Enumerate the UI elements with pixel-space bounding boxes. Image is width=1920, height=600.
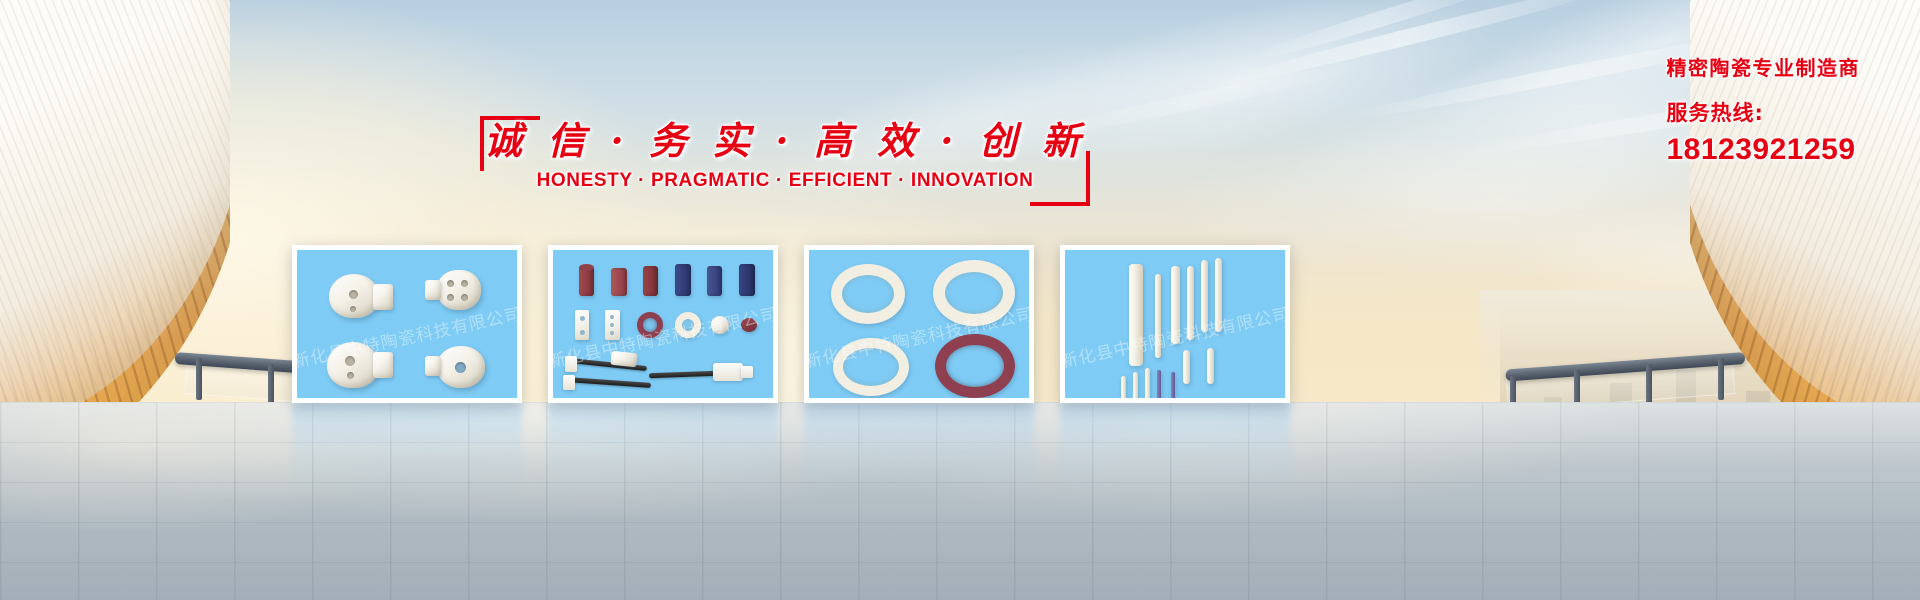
hotline-phone-number[interactable]: 18123921259 xyxy=(1667,133,1861,167)
panel-3-products xyxy=(809,250,1029,398)
product-panel-4[interactable]: 新化县中特陶瓷科技有限公司 xyxy=(1060,245,1290,403)
panel-4-products xyxy=(1065,250,1285,398)
product-panel-2[interactable]: 新化县中特陶瓷科技有限公司 xyxy=(548,245,778,403)
contact-block: 精密陶瓷专业制造商 服务热线: 18123921259 xyxy=(1667,52,1861,167)
hotline-label: 服务热线: xyxy=(1667,97,1861,127)
hero-banner: 诚 信 · 务 实 · 高 效 · 创 新 HONESTY · PRAGMATI… xyxy=(0,0,1920,600)
product-panel-list: 新化县中特陶瓷科技有限公司 xyxy=(292,245,1290,403)
terrace-floor xyxy=(0,402,1920,600)
slogan-english: HONESTY · PRAGMATIC · EFFICIENT · INNOVA… xyxy=(480,170,1090,192)
panel-2-products xyxy=(553,250,773,398)
panel-1-products xyxy=(297,250,517,398)
product-panel-3[interactable]: 新化县中特陶瓷科技有限公司 xyxy=(804,245,1034,403)
product-panel-1[interactable]: 新化县中特陶瓷科技有限公司 xyxy=(292,245,522,403)
slogan-chinese: 诚 信 · 务 实 · 高 效 · 创 新 xyxy=(480,110,1090,165)
slogan-block: 诚 信 · 务 实 · 高 效 · 创 新 HONESTY · PRAGMATI… xyxy=(480,108,1090,200)
company-tagline: 精密陶瓷专业制造商 xyxy=(1667,52,1861,81)
